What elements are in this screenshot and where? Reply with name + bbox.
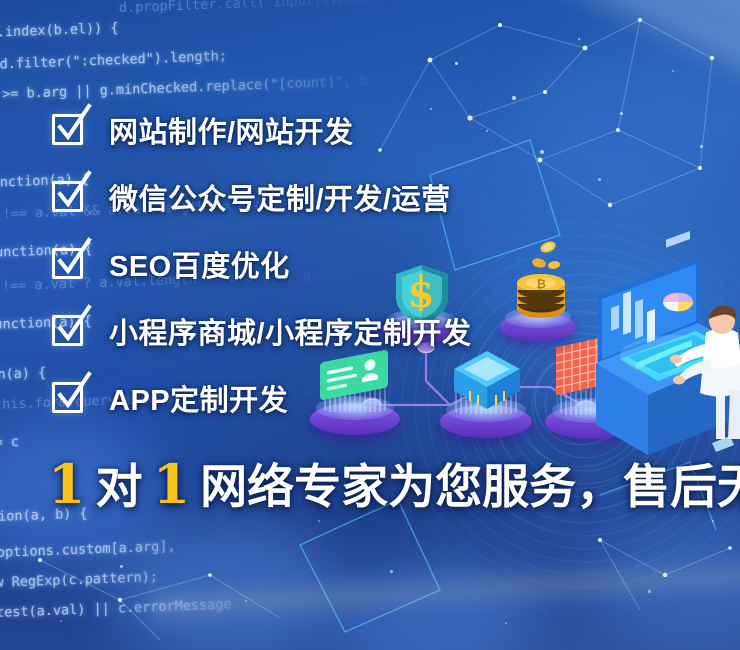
promo-banner: d.propFilter.call( input[type=checkbox]|… <box>0 0 740 650</box>
checkbox-checked-icon[interactable] <box>52 248 83 279</box>
feature-item-wechat[interactable]: 微信公众号定制/开发/运营 <box>52 163 692 230</box>
feature-list: 网站制作/网站开发 微信公众号定制/开发/运营 SEO百度优化 小程序商城/小程… <box>52 96 692 431</box>
feature-label: SEO百度优化 <box>109 243 290 285</box>
feature-label: 网站制作/网站开发 <box>109 109 354 151</box>
checkbox-checked-icon[interactable] <box>52 114 83 145</box>
headline-number-first: 1 <box>48 452 86 516</box>
checkbox-checked-icon[interactable] <box>52 315 83 346</box>
feature-item-seo[interactable]: SEO百度优化 <box>52 230 692 297</box>
feature-item-website[interactable]: 网站制作/网站开发 <box>52 96 692 163</box>
checkbox-checked-icon[interactable] <box>52 382 83 413</box>
headline-rest-text: 网络专家为您服务，售后无忧！ <box>200 448 740 517</box>
headline-slogan: 1 对 1 网络专家为您服务，售后无忧！ <box>48 448 740 517</box>
feature-label: 微信公众号定制/开发/运营 <box>109 176 451 218</box>
feature-label: 小程序商城/小程序定制开发 <box>109 310 472 352</box>
feature-item-app[interactable]: APP定制开发 <box>52 364 692 431</box>
feature-item-miniprogram[interactable]: 小程序商城/小程序定制开发 <box>52 297 692 364</box>
headline-number-second: 1 <box>153 452 191 516</box>
feature-label: APP定制开发 <box>109 377 288 419</box>
headline-word-dui: 对 <box>96 448 143 517</box>
checkbox-checked-icon[interactable] <box>52 181 83 212</box>
